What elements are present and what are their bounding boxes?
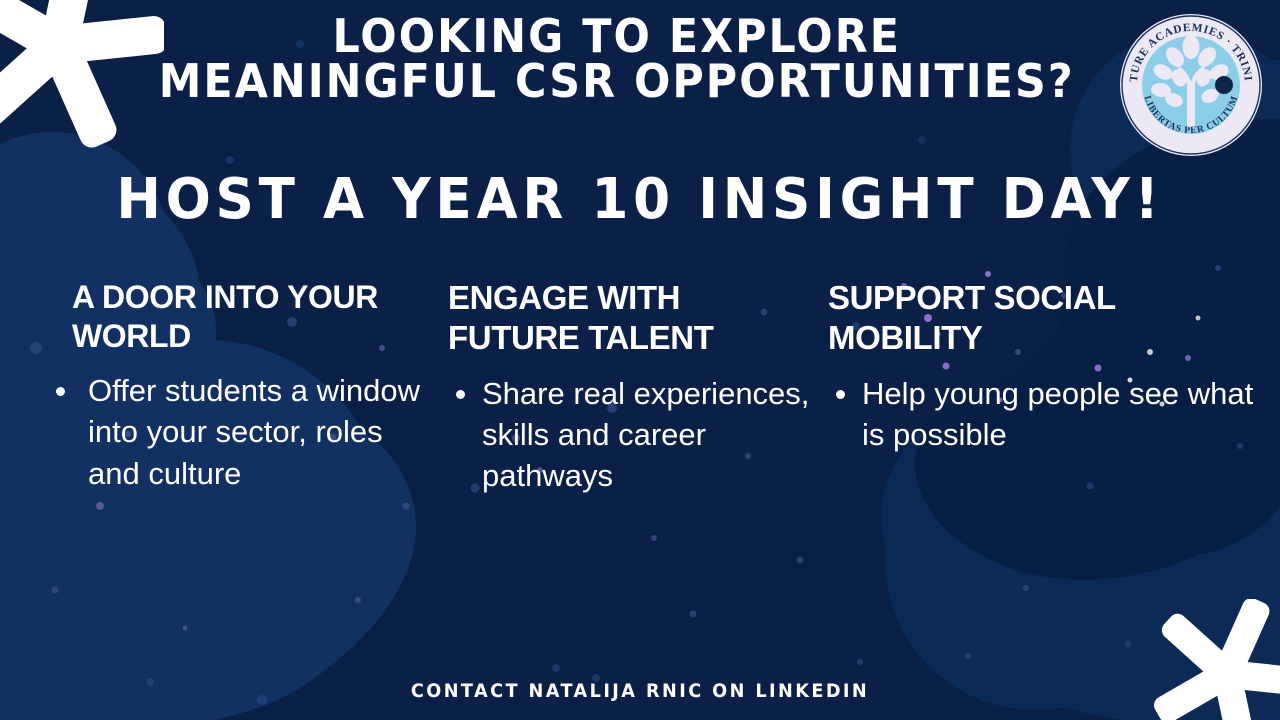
- logo-accent-dot: [1215, 76, 1233, 94]
- benefit-list-3: Help young people see what is possible: [828, 373, 1256, 455]
- subheadline: Host a Year 10 Insight Day!: [32, 172, 1248, 228]
- footer-contact: Contact Natalija Rnic on LinkedIn: [45, 680, 1235, 702]
- list-item: Help young people see what is possible: [828, 373, 1256, 455]
- benefit-column-3: Support social mobility Help young peopl…: [828, 278, 1256, 658]
- benefit-column-2: Engage with future talent Share real exp…: [448, 278, 828, 658]
- benefit-heading-2: Engage with future talent: [448, 278, 818, 359]
- benefit-heading-3: Support social mobility: [828, 278, 1256, 359]
- benefit-list-2: Share real experiences, skills and caree…: [448, 373, 818, 497]
- poster-content: Looking to explore meaningful CSR opport…: [0, 0, 1280, 720]
- benefit-list-1: Offer students a window into your sector…: [48, 370, 434, 494]
- list-item: Offer students a window into your sector…: [48, 370, 434, 494]
- organisation-logo: FUTURE ACADEMIES · TRINITY LIBERTAS PER …: [1118, 12, 1264, 158]
- list-item: Share real experiences, skills and caree…: [448, 373, 818, 497]
- headline: Looking to explore meaningful CSR opport…: [45, 14, 1235, 104]
- benefit-column-1: A door into your world Offer students a …: [48, 278, 448, 658]
- benefit-heading-1: A door into your world: [48, 278, 434, 356]
- benefits-columns: A door into your world Offer students a …: [0, 278, 1280, 658]
